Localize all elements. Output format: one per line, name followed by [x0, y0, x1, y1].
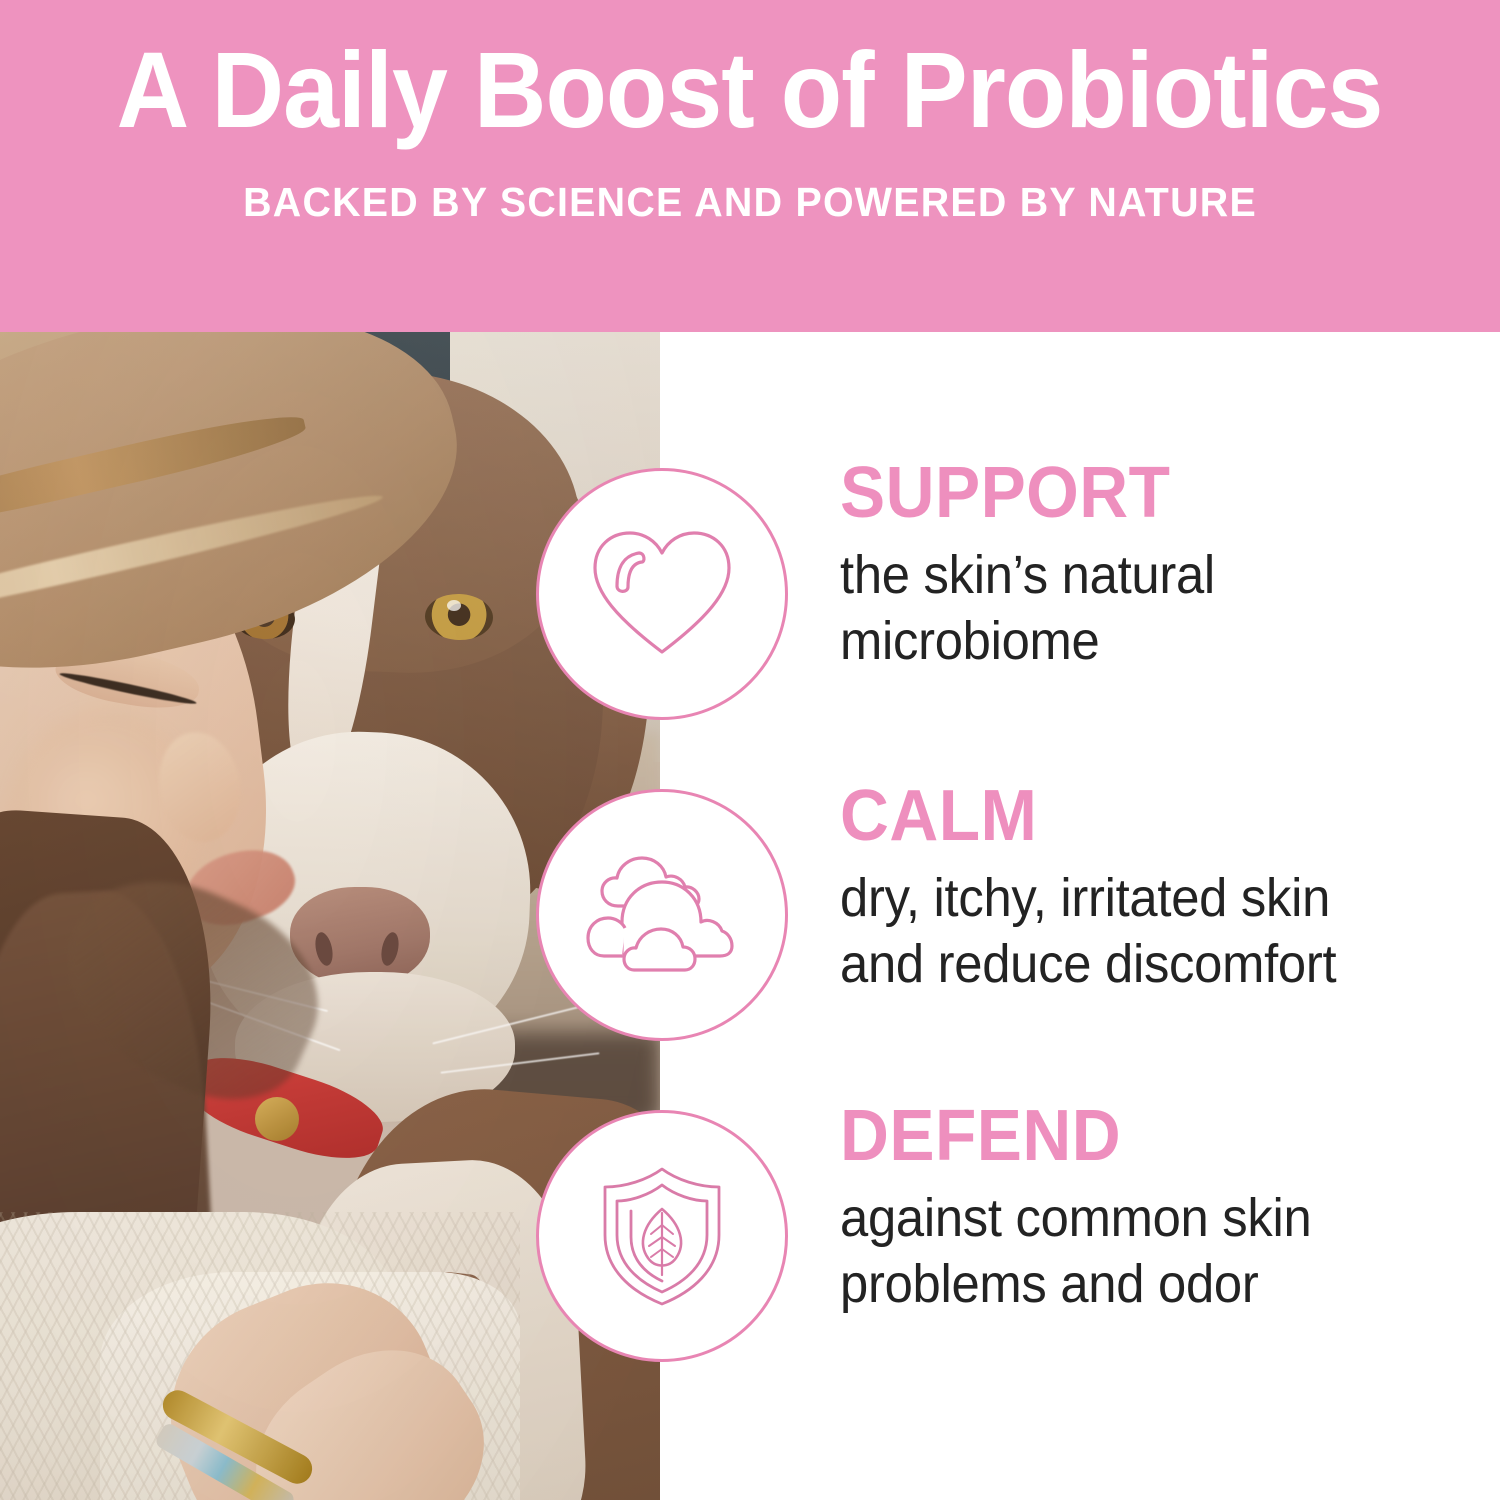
feature-desc-support: the skin’s natural microbiome	[840, 543, 1215, 675]
feature-block-support: SUPPORT the skin’s natural microbiome	[840, 457, 1239, 675]
feature-desc-line: and reduce discomfort	[840, 932, 1336, 998]
page-title: A Daily Boost of Probiotics	[117, 36, 1383, 144]
feature-desc-line: against common skin	[840, 1186, 1311, 1252]
shield-leaf-icon	[587, 1161, 737, 1311]
feature-desc-defend: against common skin problems and odor	[840, 1186, 1311, 1318]
clouds-icon	[582, 848, 742, 983]
feature-icon-circle-support[interactable]	[536, 468, 788, 720]
feature-desc-line: microbiome	[840, 609, 1215, 675]
feature-block-defend: DEFEND against common skin problems and …	[840, 1100, 1342, 1318]
page-subtitle: BACKED BY SCIENCE AND POWERED BY NATURE	[243, 182, 1257, 223]
feature-title-defend: DEFEND	[840, 1100, 1311, 1172]
feature-title-support: SUPPORT	[840, 457, 1215, 529]
heart-icon	[587, 524, 737, 664]
infographic-page: A Daily Boost of Probiotics BACKED BY SC…	[0, 0, 1500, 1500]
feature-icon-circle-calm[interactable]	[536, 789, 788, 1041]
feature-block-calm: CALM dry, itchy, irritated skin and redu…	[840, 780, 1368, 998]
header-banner: A Daily Boost of Probiotics BACKED BY SC…	[0, 0, 1500, 332]
feature-desc-line: the skin’s natural	[840, 543, 1215, 609]
feature-title-calm: CALM	[840, 780, 1336, 852]
feature-desc-line: dry, itchy, irritated skin	[840, 866, 1336, 932]
feature-icon-circle-defend[interactable]	[536, 1110, 788, 1362]
feature-desc-line: problems and odor	[840, 1252, 1311, 1318]
feature-desc-calm: dry, itchy, irritated skin and reduce di…	[840, 866, 1336, 998]
